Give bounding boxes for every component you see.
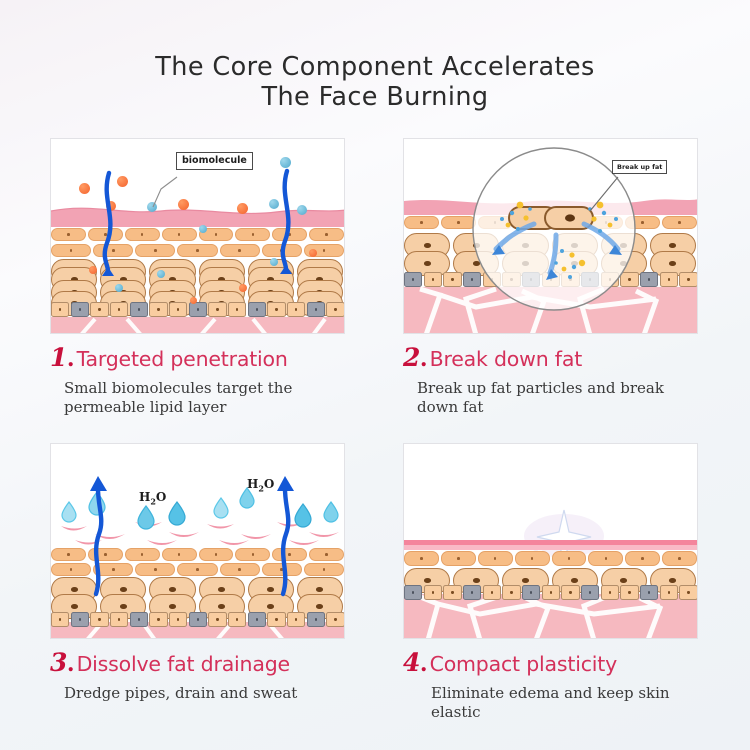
- panel-3-heading: Dissolve fat drainage: [77, 652, 290, 676]
- panel-1-figure: biomolecule: [50, 138, 345, 334]
- skin-compact-diagram: [404, 444, 698, 639]
- title-line-1: The Core Component Accelerates: [0, 52, 750, 82]
- stratum-row-1: [404, 551, 698, 566]
- panel-3-body: Dredge pipes, drain and sweat: [64, 684, 339, 703]
- panel-2-heading: Break down fat: [430, 347, 582, 371]
- panel-2-number: 2: [403, 343, 420, 372]
- h2o-label-2: H2O: [247, 477, 274, 493]
- title-line-2: The Face Burning: [0, 82, 750, 112]
- panel-3: H2O H2O 3.Dissolve fat drainage Dredge p…: [50, 443, 345, 703]
- panel-2-number-dot: .: [420, 346, 428, 372]
- panel-3-number: 3: [50, 648, 67, 677]
- panel-3-figure: H2O H2O: [50, 443, 345, 639]
- panel-4-number: 4: [403, 648, 420, 677]
- break-up-fat-callout: Break up fat: [612, 160, 667, 174]
- panel-2-caption-head: 2.Break down fat: [403, 345, 698, 370]
- panel-4-number-dot: .: [420, 651, 428, 677]
- panel-4-heading: Compact plasticity: [430, 652, 617, 676]
- basal-layer: [404, 585, 698, 602]
- panel-4-caption-head: 4.Compact plasticity: [403, 650, 698, 675]
- panel-1-number: 1: [50, 343, 67, 372]
- panel-4: 4.Compact plasticity Eliminate edema and…: [403, 443, 698, 721]
- panel-4-body: Eliminate edema and keep skin elastic: [431, 684, 698, 721]
- biomolecule-callout: biomolecule: [176, 152, 253, 170]
- panel-4-figure: [403, 443, 698, 639]
- panel-2-body: Break up fat particles and break down fa…: [417, 379, 692, 416]
- panel-3-caption-head: 3.Dissolve fat drainage: [50, 650, 345, 675]
- page-title: The Core Component Accelerates The Face …: [0, 52, 750, 112]
- h2o-label-1: H2O: [139, 490, 166, 506]
- upward-arrows: [51, 444, 345, 639]
- panel-1-caption-head: 1.Targeted penetration: [50, 345, 345, 370]
- panel-1-body: Small biomolecules target the permeable …: [64, 379, 339, 416]
- panel-2-figure: Break up fat: [403, 138, 698, 334]
- panel-3-number-dot: .: [67, 651, 75, 677]
- panel-1: biomolecule 1.Targeted penetration Small…: [50, 138, 345, 416]
- panel-2: Break up fat 2.Break down fat Break up f…: [403, 138, 698, 416]
- infographic-page: The Core Component Accelerates The Face …: [0, 0, 750, 750]
- panel-1-heading: Targeted penetration: [77, 347, 288, 371]
- panel-1-number-dot: .: [67, 346, 75, 372]
